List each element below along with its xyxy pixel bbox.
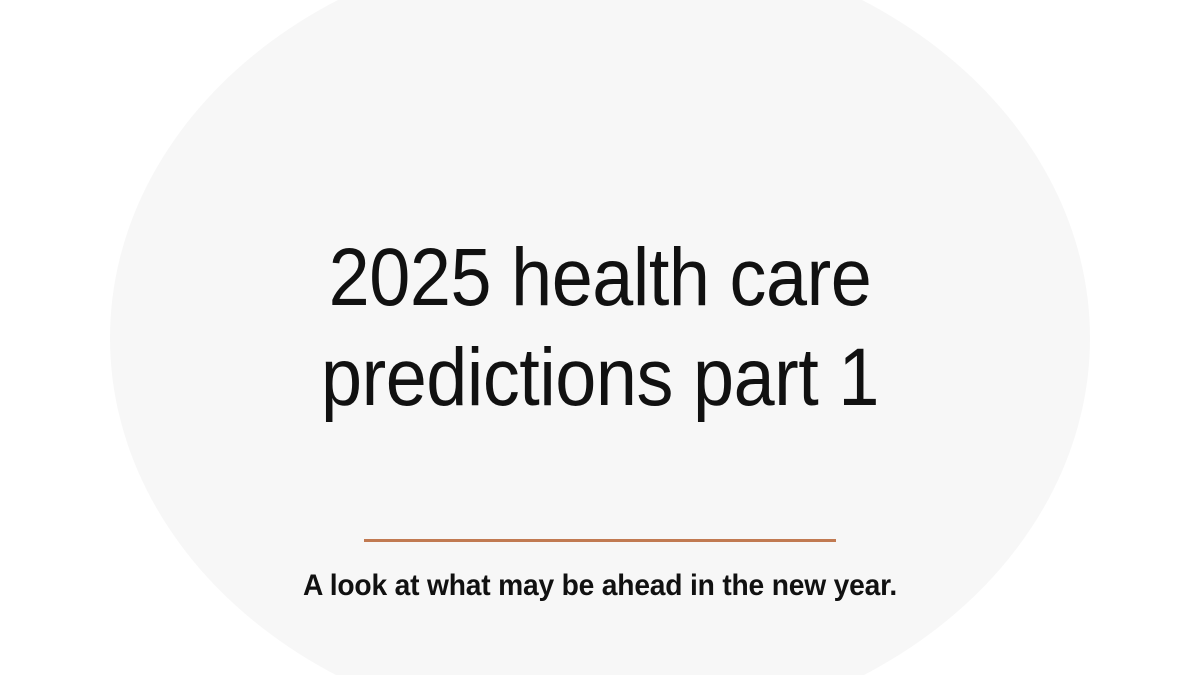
page-title: 2025 health care predictions part 1	[0, 228, 1200, 428]
divider-container	[0, 539, 1200, 542]
subtitle-container: A look at what may be ahead in the new y…	[0, 566, 1200, 606]
page-subtitle: A look at what may be ahead in the new y…	[303, 566, 897, 606]
title-slide: 2025 health care predictions part 1 A lo…	[0, 0, 1200, 675]
title-line-2: predictions part 1	[60, 328, 1140, 428]
accent-divider-rule	[364, 539, 836, 542]
title-line-1: 2025 health care	[60, 228, 1140, 328]
slide-content: 2025 health care predictions part 1 A lo…	[0, 0, 1200, 675]
